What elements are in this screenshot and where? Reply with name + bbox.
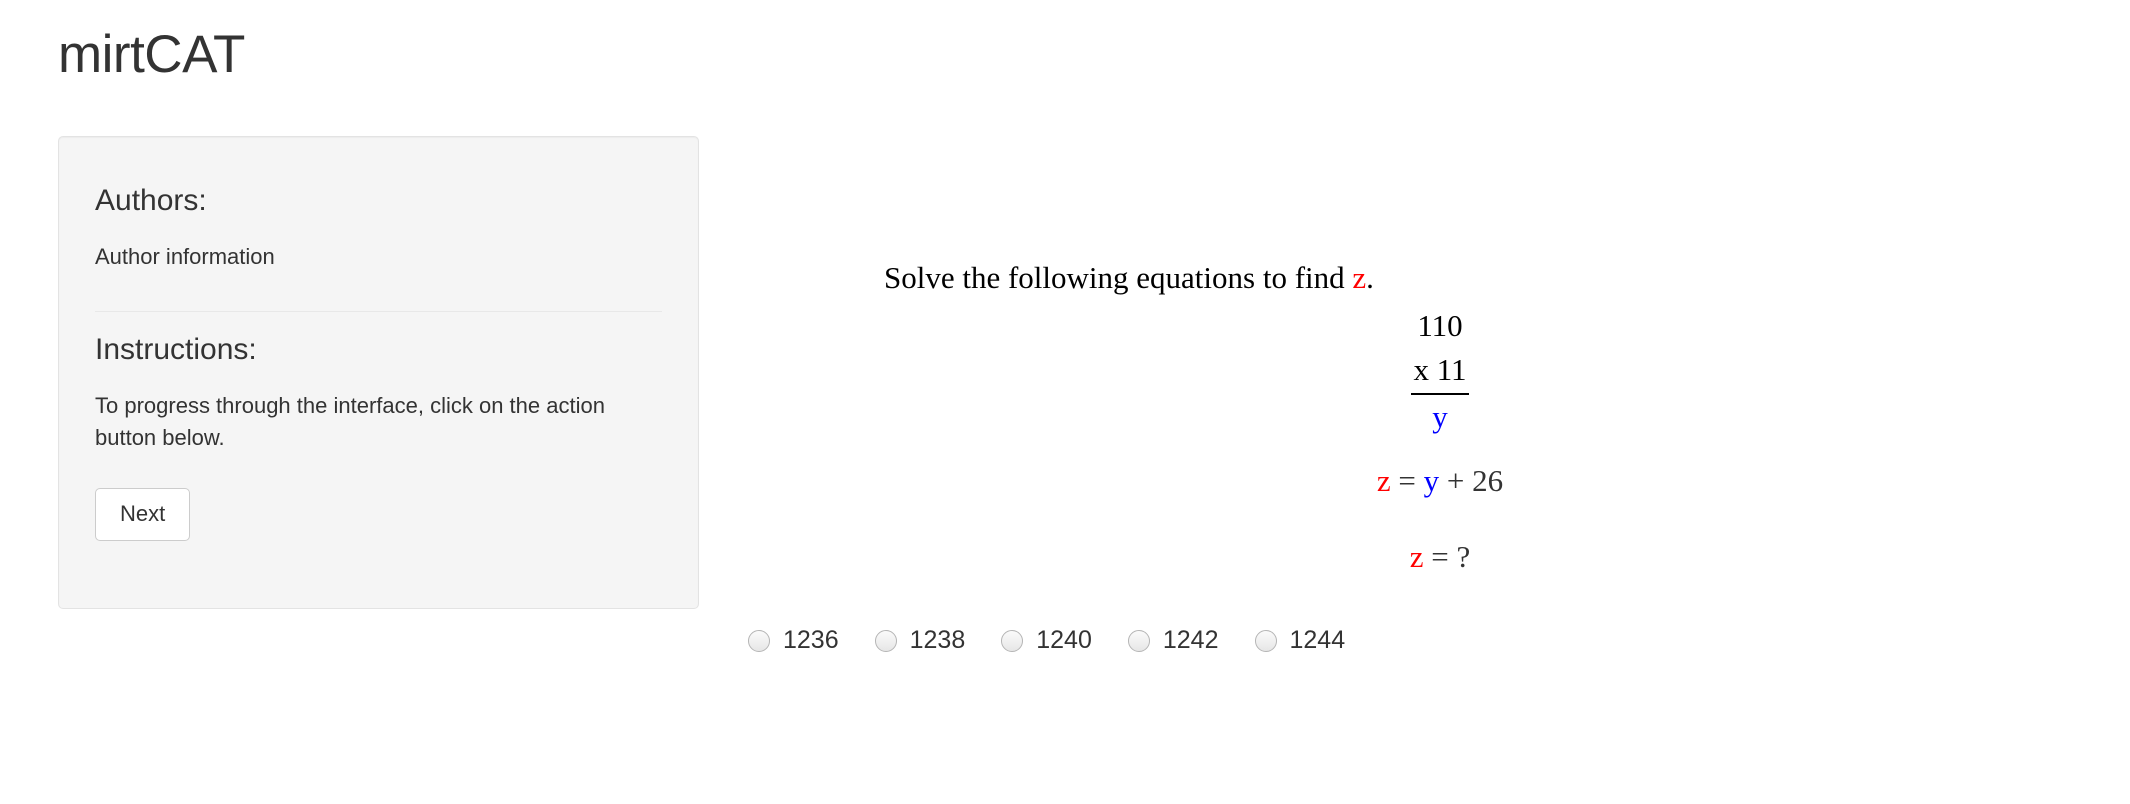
option-1238[interactable]: 1238 [875, 628, 966, 653]
equation-operand-bottom: x 11 [1411, 348, 1468, 395]
sidebar-panel-inner: Authors: Author information Instructions… [59, 137, 698, 541]
equation-product: y [1315, 395, 1565, 439]
authors-heading: Authors: [95, 183, 662, 219]
radio-icon[interactable] [1128, 630, 1150, 652]
option-1240[interactable]: 1240 [1001, 628, 1092, 653]
question-prompt-prefix: Solve the following equations to find [884, 260, 1352, 295]
equation-equals-1: = [1391, 463, 1424, 498]
option-1242[interactable]: 1242 [1128, 628, 1219, 653]
radio-icon[interactable] [748, 630, 770, 652]
authors-text: Author information [95, 241, 662, 273]
question-variable-z: z [1352, 260, 1366, 295]
equation-y-rhs: y [1424, 463, 1440, 498]
equation-z-query-lhs: z [1410, 539, 1424, 574]
answer-options: 1236 1238 1240 1242 1244 [748, 628, 1345, 653]
equation-z-definition: z = y + 26 [1315, 463, 1565, 499]
section-divider [95, 311, 662, 312]
equation-z-query: z = ? [1315, 539, 1565, 575]
equation-multiplication: 110 x 11 y [1315, 304, 1565, 439]
question-prompt-suffix: . [1366, 260, 1374, 295]
question-prompt: Solve the following equations to find z. [760, 258, 1940, 298]
equation-operand-top: 110 [1315, 304, 1565, 348]
equation-operand-bottom-row: x 11 [1315, 348, 1565, 395]
equation-z-lhs: z [1377, 463, 1391, 498]
option-label: 1244 [1290, 628, 1346, 653]
equation-rhs-rest: + 26 [1439, 463, 1503, 498]
option-label: 1240 [1036, 628, 1092, 653]
option-label: 1236 [783, 628, 839, 653]
instructions-heading: Instructions: [95, 332, 662, 368]
radio-icon[interactable] [1001, 630, 1023, 652]
radio-icon[interactable] [875, 630, 897, 652]
instructions-text: To progress through the interface, click… [95, 390, 662, 454]
question-area: Solve the following equations to find z.… [760, 258, 1940, 575]
sidebar-panel: Authors: Author information Instructions… [58, 136, 699, 609]
option-1244[interactable]: 1244 [1255, 628, 1346, 653]
next-button[interactable]: Next [95, 488, 190, 542]
app-page: mirtCAT Authors: Author information Inst… [0, 0, 2130, 804]
option-1236[interactable]: 1236 [748, 628, 839, 653]
option-label: 1242 [1163, 628, 1219, 653]
option-label: 1238 [910, 628, 966, 653]
page-title: mirtCAT [58, 26, 245, 84]
radio-icon[interactable] [1255, 630, 1277, 652]
equation-z-query-rest: = ? [1424, 539, 1471, 574]
